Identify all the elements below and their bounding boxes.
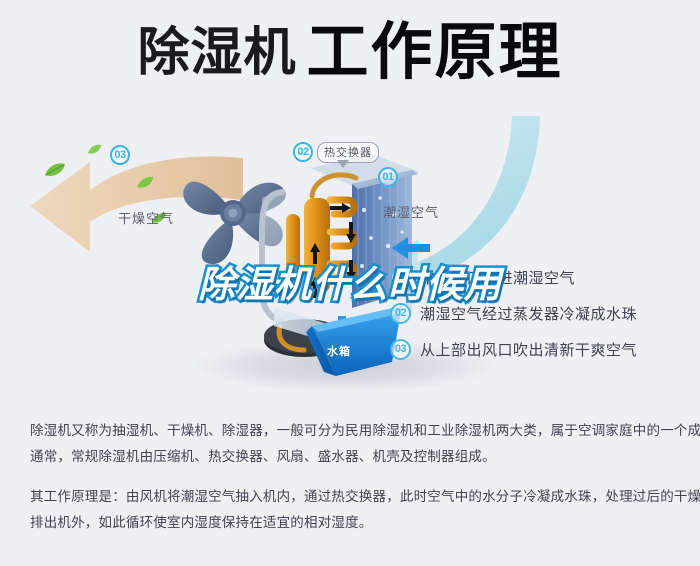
legend-badge: 03 bbox=[390, 339, 411, 360]
legend-label: 中进风口吸进潮湿空气 bbox=[420, 267, 575, 288]
infographic-page: 除湿机工作原理 bbox=[0, 0, 700, 566]
paragraph-2-line-1: 其工作原理是：由风机将潮湿空气抽入机内，通过热交换器，此时空气中的水分子冷凝成水… bbox=[30, 484, 672, 510]
callout-tail-icon bbox=[337, 160, 349, 168]
badge-03-dry-air: 03 bbox=[110, 145, 130, 165]
legend-item: 02 潮湿空气经过蒸发器冷凝成水珠 bbox=[390, 298, 690, 328]
legend-item: 03 从上部出风口吹出清新干爽空气 bbox=[390, 334, 690, 364]
paragraph-1: 除湿机又称为抽湿机、干燥机、除湿器，一般可分为民用除湿机和工业除湿机两大类，属于… bbox=[30, 418, 672, 470]
legend-item: 01 中进风口吸进潮湿空气 bbox=[390, 262, 690, 292]
caption-humid-air: 潮湿空气 bbox=[383, 202, 439, 221]
leaf-icon bbox=[137, 176, 154, 189]
paragraph-2-line-2: 排出机外，如此循环使室内湿度保持在适宜的相对湿度。 bbox=[30, 510, 672, 536]
page-title: 除湿机工作原理 bbox=[0, 22, 700, 84]
legend-label: 从上部出风口吹出清新干爽空气 bbox=[420, 339, 637, 360]
badge-01-humid-air: 01 bbox=[378, 167, 398, 187]
title-part-primary: 除湿机 bbox=[137, 24, 296, 82]
legend-list: 01 中进风口吸进潮湿空气 02 潮湿空气经过蒸发器冷凝成水珠 03 从上部出风… bbox=[390, 262, 690, 370]
paragraph-1-line-1: 除湿机又称为抽湿机、干燥机、除湿器，一般可分为民用除湿机和工业除湿机两大类，属于… bbox=[30, 418, 672, 444]
legend-label: 潮湿空气经过蒸发器冷凝成水珠 bbox=[420, 303, 637, 324]
badge-02-heat-exchanger: 02 bbox=[293, 142, 313, 162]
legend-badge: 01 bbox=[390, 267, 411, 288]
title-part-secondary: 工作原理 bbox=[307, 18, 563, 87]
caption-dry-air: 干燥空气 bbox=[118, 208, 174, 227]
description-section: 除湿机又称为抽湿机、干燥机、除湿器，一般可分为民用除湿机和工业除湿机两大类，属于… bbox=[0, 404, 700, 566]
legend-badge: 02 bbox=[390, 303, 411, 324]
paragraph-1-line-2: 通常，常规除湿机由压缩机、热交换器、风扇、盛水器、机壳及控制器组成。 bbox=[30, 444, 672, 470]
paragraph-2: 其工作原理是：由风机将潮湿空气抽入机内，通过热交换器，此时空气中的水分子冷凝成水… bbox=[30, 484, 672, 536]
leaf-icon bbox=[88, 144, 102, 155]
label-water-tank: 水箱 bbox=[327, 343, 351, 359]
leaf-icon bbox=[44, 162, 66, 178]
